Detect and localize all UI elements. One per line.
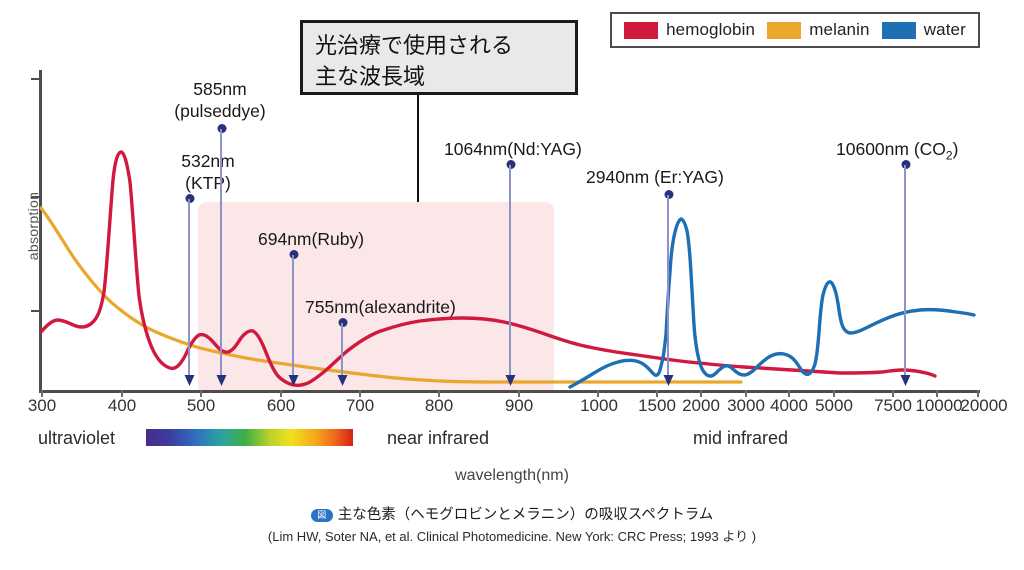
- zone-label-near-infrared: near infrared: [387, 428, 489, 449]
- marker-arrow-2940nm: [664, 375, 674, 386]
- marker-label-10600nm-co2: 10600nm (CO2): [836, 138, 958, 167]
- figure-badge-icon: 図: [311, 509, 333, 522]
- marker-line-755nm: [341, 323, 343, 375]
- marker-dot-10600nm: [902, 160, 911, 169]
- marker-label-585nm-line1: 585nm: [193, 79, 247, 99]
- spectra-plot: [0, 0, 1024, 400]
- marker-line-585nm: [220, 129, 222, 375]
- marker-label-585nm-pulseddye: 585nm (pulseddye): [160, 78, 280, 122]
- marker-dot-1064nm: [507, 160, 516, 169]
- marker-label-694nm-line1: 694nm(Ruby): [258, 229, 364, 249]
- x-axis-label-3000: 3000: [727, 396, 765, 416]
- figure-caption-text: 主な色素（ヘモグロビンとメラニン）の吸収スペクトラム: [338, 507, 714, 523]
- x-axis-label-5000: 5000: [815, 396, 853, 416]
- marker-label-755nm-line1: 755nm(alexandrite): [305, 297, 456, 317]
- x-axis-label-500: 500: [187, 396, 215, 416]
- x-axis-label-700: 700: [346, 396, 374, 416]
- marker-label-1064nm-ndyag: 1064nm(Nd:YAG): [444, 138, 582, 160]
- marker-label-694nm-ruby: 694nm(Ruby): [258, 228, 364, 250]
- figure-root: hemoglobin melanin water 光治療で使用される 主な波長域…: [0, 0, 1024, 570]
- visible-spectrum-bar: [146, 429, 353, 446]
- marker-label-532nm-line1: 532nm: [181, 151, 235, 171]
- x-axis-label-4000: 4000: [770, 396, 808, 416]
- x-axis-label-7500: 7500: [874, 396, 912, 416]
- marker-label-532nm-ktp: 532nm (KTP): [158, 150, 258, 194]
- x-axis-label-1000: 1000: [580, 396, 618, 416]
- figure-source: (Lim HW, Soter NA, et al. Clinical Photo…: [0, 526, 1024, 545]
- marker-label-755nm-alexandrite: 755nm(alexandrite): [305, 296, 456, 318]
- marker-dot-585nm: [218, 124, 227, 133]
- marker-label-10600nm-subscript: 2: [946, 149, 953, 163]
- curve-water: [570, 219, 974, 387]
- marker-label-532nm-line2: (KTP): [185, 173, 231, 193]
- marker-label-2940nm-line1: 2940nm (Er:YAG): [586, 167, 724, 187]
- marker-label-10600nm-paren: ): [953, 139, 959, 159]
- x-axis-label-2000: 2000: [682, 396, 720, 416]
- marker-line-1064nm: [509, 165, 511, 375]
- marker-label-10600nm-line1: 10600nm (CO: [836, 139, 946, 159]
- marker-line-10600nm: [904, 165, 906, 375]
- marker-label-1064nm-line1: 1064nm(Nd:YAG): [444, 139, 582, 159]
- figure-caption: 図主な色素（ヘモグロビンとメラニン）の吸収スペクトラム: [0, 503, 1024, 524]
- marker-line-532nm: [188, 199, 190, 375]
- marker-dot-532nm: [186, 194, 195, 203]
- x-axis-label-300: 300: [28, 396, 56, 416]
- x-axis-label-900: 900: [505, 396, 533, 416]
- x-axis-label-400: 400: [108, 396, 136, 416]
- x-axis-label-1500: 1500: [638, 396, 676, 416]
- marker-dot-694nm: [290, 250, 299, 259]
- marker-label-2940nm-eryag: 2940nm (Er:YAG): [586, 166, 724, 188]
- x-axis-label-800: 800: [425, 396, 453, 416]
- x-axis-label-600: 600: [267, 396, 295, 416]
- marker-dot-2940nm: [665, 190, 674, 199]
- zone-label-ultraviolet: ultraviolet: [38, 428, 115, 449]
- marker-arrow-585nm: [217, 375, 227, 386]
- marker-arrow-1064nm: [506, 375, 516, 386]
- marker-label-585nm-line2: (pulseddye): [174, 101, 265, 121]
- x-axis-label-10000: 10000: [915, 396, 962, 416]
- zone-label-mid-infrared: mid infrared: [693, 428, 788, 449]
- marker-arrow-532nm: [185, 375, 195, 386]
- marker-line-694nm: [292, 255, 294, 375]
- marker-arrow-10600nm: [901, 375, 911, 386]
- marker-dot-755nm: [339, 318, 348, 327]
- x-axis-label-20000: 20000: [960, 396, 1007, 416]
- marker-arrow-694nm: [289, 375, 299, 386]
- marker-arrow-755nm: [338, 375, 348, 386]
- x-axis-title: wavelength(nm): [0, 467, 1024, 485]
- marker-line-2940nm: [667, 195, 669, 375]
